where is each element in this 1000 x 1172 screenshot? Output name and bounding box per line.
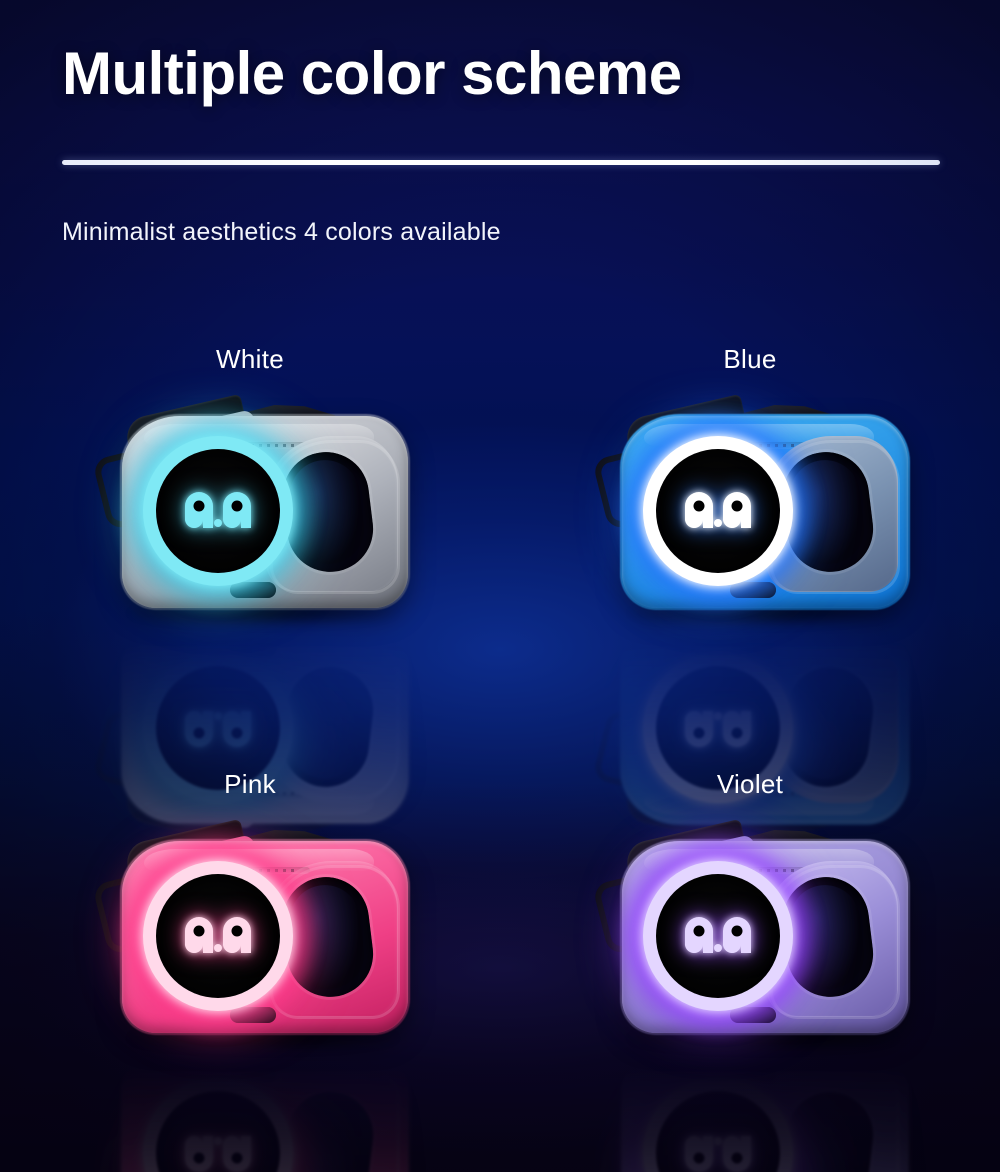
led-ring [143,1078,293,1172]
strap-loop [592,1134,654,1172]
type-c-label: Type-C [733,1098,762,1105]
strap-cutout [147,1137,274,1172]
brand-logo-icon [681,913,755,959]
handle-rail [770,1070,900,1172]
color-label-white: White [0,344,500,375]
page-title: Multiple color scheme [62,42,682,105]
product-stage: Type-C [70,402,430,732]
color-variant-grid: White Type-C [0,330,1000,1172]
brand-logo-icon [681,705,755,751]
led-screen [156,449,280,573]
color-label-blue: Blue [500,344,1000,375]
body-trim [120,1054,410,1172]
type-c-label: Type-C [233,1098,262,1105]
brand-logo-icon [181,913,255,959]
handle-cutout [278,1087,378,1172]
product-stage: Type-C [70,827,430,1157]
type-c-port [230,1066,276,1082]
led-display[interactable] [643,436,793,586]
type-c-port [730,641,776,657]
product-stage: Type-C [570,827,930,1157]
color-variant-violet[interactable]: Violet Type-C [500,755,1000,1172]
product-body [622,1056,908,1172]
color-variant-row: Pink Type-C [0,755,1000,1172]
handle-cutout [778,1087,878,1172]
color-variant-pink[interactable]: Pink Type-C [0,755,500,1172]
color-variant-blue[interactable]: Blue Type-C [500,330,1000,755]
type-c-port [730,1066,776,1082]
led-display[interactable] [643,1078,793,1172]
type-c-port [230,641,276,657]
led-screen [656,874,780,998]
product-reflection: Type-C [570,1047,930,1172]
body-trim [620,1054,910,1172]
header-divider [62,160,940,165]
type-c-label: Type-C [733,673,762,680]
page-subtitle: Minimalist aesthetics 4 colors available [62,218,501,247]
color-variant-row: White Type-C [0,330,1000,755]
product-stage: Type-C [570,402,930,732]
brand-logo-icon [181,488,255,534]
strap-loop [92,1134,154,1172]
color-label-pink: Pink [0,769,500,800]
product-reflection: Type-C [70,1047,430,1172]
brand-logo-icon [681,488,755,534]
handle-cutout-inner [286,1096,368,1172]
led-screen [656,449,780,573]
brand-logo-icon [181,705,255,751]
brand-logo-icon [181,1130,255,1172]
led-display[interactable] [143,1078,293,1172]
handle-body [766,1072,898,1172]
product-image: Type-C [70,402,430,617]
product-color-scheme-page: Multiple color scheme Minimalist aesthet… [0,0,1000,1172]
color-label-violet: Violet [500,769,1000,800]
led-display[interactable] [143,436,293,586]
handle-cutout-inner [786,1096,868,1172]
led-display[interactable] [143,861,293,1011]
brand-logo-icon [681,1130,755,1172]
color-variant-white[interactable]: White Type-C [0,330,500,755]
led-display[interactable] [643,861,793,1011]
handle-rail [270,1070,400,1172]
product-image: Type-C [570,827,930,1042]
strap-cutout [647,1137,774,1172]
led-ring [643,1078,793,1172]
led-glow [617,1052,819,1172]
led-screen [156,1091,280,1172]
product-image: Type-C [570,402,930,617]
led-screen [156,874,280,998]
wrist-strap [623,1134,765,1172]
wrist-strap [123,1134,265,1172]
led-glow [117,1052,319,1172]
handle-body [266,1072,398,1172]
led-screen [656,1091,780,1172]
type-c-label: Type-C [233,673,262,680]
product-body [122,1056,408,1172]
product-image: Type-C [70,827,430,1042]
